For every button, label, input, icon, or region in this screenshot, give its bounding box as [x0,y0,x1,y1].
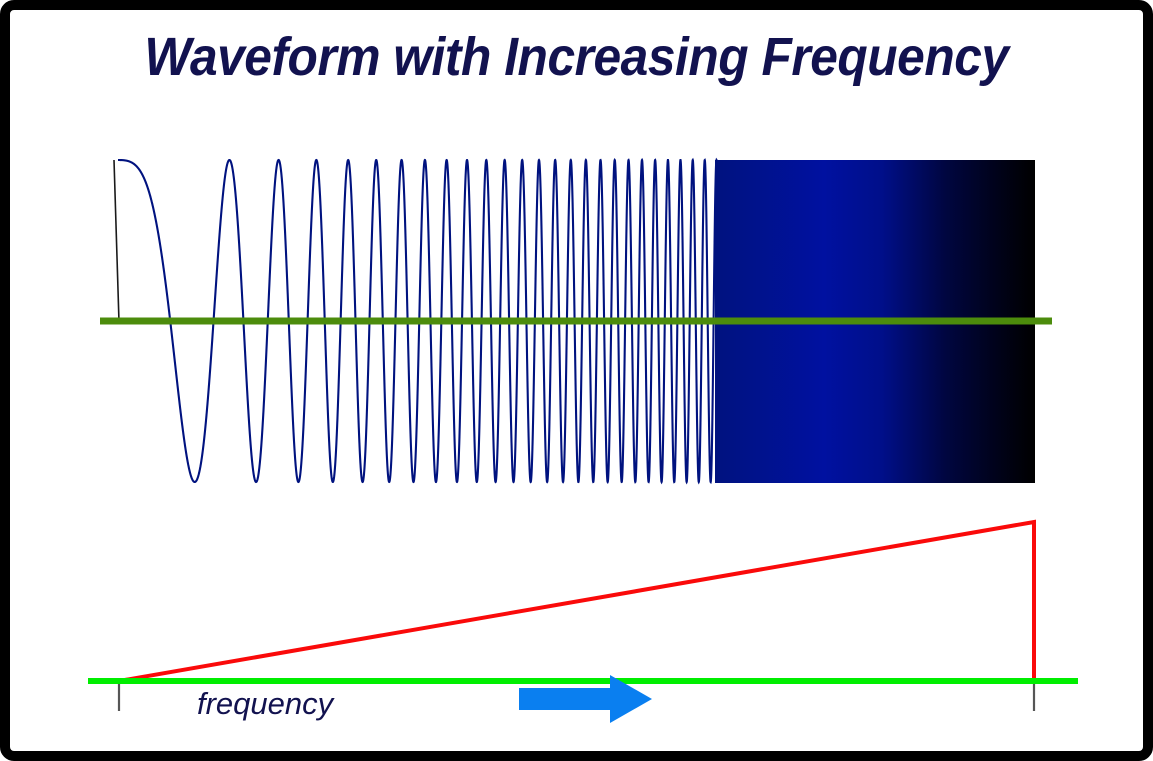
figure-canvas: Waveform with Increasing Frequency [0,0,1153,761]
frequency-ramp-line [119,522,1034,681]
frequency-axis-label: frequency [197,686,333,722]
frequency-ramp-panel [0,0,1153,761]
